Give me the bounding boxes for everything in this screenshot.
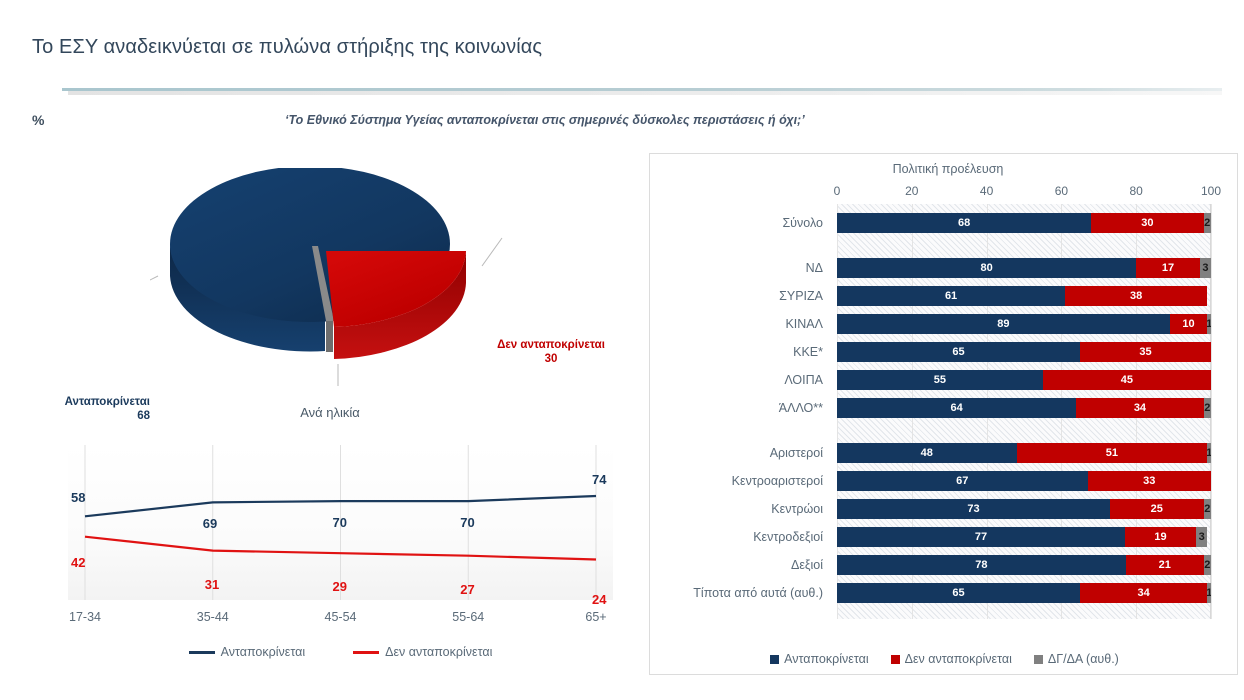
- bar-segment: 21: [1126, 555, 1204, 575]
- bar-segment: 65: [837, 583, 1080, 603]
- legend-label: Δεν ανταποκρίνεται: [385, 645, 492, 659]
- bar-x-tick: 40: [980, 184, 993, 198]
- line-data-label: 70: [460, 515, 474, 530]
- legend-swatch-icon: [189, 651, 215, 654]
- pie-label-not-responds-value: 30: [545, 353, 558, 365]
- bar-row-label: Δεξιοί: [650, 555, 830, 575]
- line-chart-legend: ΑνταποκρίνεταιΔεν ανταποκρίνεται: [68, 645, 613, 659]
- question-text: ‘Το Εθνικό Σύστημα Υγείας ανταποκρίνεται…: [285, 113, 805, 127]
- bar-row: Σύνολο68302: [650, 213, 1239, 233]
- bar-row-label: ΚΙΝΑΛ: [650, 314, 830, 334]
- bar-rows: Σύνολο68302ΝΔ80173ΣΥΡΙΖΑ6138ΚΙΝΑΛ89101ΚΚ…: [650, 204, 1239, 619]
- bar-segment: 10: [1170, 314, 1207, 334]
- bar-row-label: ΣΥΡΙΖΑ: [650, 286, 830, 306]
- page-title: Το ΕΣΥ αναδεικνύεται σε πυλώνα στήριξης …: [32, 36, 542, 59]
- legend-swatch-icon: [1034, 655, 1043, 664]
- pie-label-not-responds: Δεν ανταποκρίνεται 30: [492, 338, 610, 367]
- line-x-tick: 55-64: [420, 610, 516, 624]
- bar-segment: 65: [837, 342, 1080, 362]
- legend-swatch-icon: [770, 655, 779, 664]
- line-data-label: 69: [203, 516, 217, 531]
- bar-segment: 67: [837, 471, 1088, 491]
- bar-row: ΝΔ80173: [650, 258, 1239, 278]
- line-chart-title: Ανά ηλικία: [20, 405, 640, 420]
- bar-row: Κεντροδεξιοί77193: [650, 527, 1239, 547]
- bar-segment: 48: [837, 443, 1017, 463]
- bar-row: ΚΙΝΑΛ89101: [650, 314, 1239, 334]
- bar-row: ΛΟΙΠΑ5545: [650, 370, 1239, 390]
- bar-x-tick: 20: [905, 184, 918, 198]
- bar-segment: 68: [837, 213, 1091, 233]
- bar-x-tick: 100: [1201, 184, 1221, 198]
- bar-row-label: Κεντροδεξιοί: [650, 527, 830, 547]
- bar-segment: 80: [837, 258, 1136, 278]
- bar-row-label: Κεντρώοι: [650, 499, 830, 519]
- bar-segment: 34: [1080, 583, 1207, 603]
- bar-row-segments: 6733: [837, 471, 1211, 491]
- bar-segment: 19: [1125, 527, 1196, 547]
- bar-segment: 25: [1110, 499, 1204, 519]
- line-data-label: 24: [592, 592, 606, 607]
- bar-segment: 3: [1196, 527, 1207, 547]
- line-chart: Ανά ηλικία 58697070744231292724 17-3435-…: [20, 405, 640, 680]
- legend-label: Ανταποκρίνεται: [784, 652, 868, 666]
- bar-row-segments: 68302: [837, 213, 1211, 233]
- pie-label-not-responds-name: Δεν ανταποκρίνεται: [497, 339, 605, 351]
- pie-graphic: [150, 168, 510, 398]
- bar-row: Τίποτα από αυτά (αυθ.)65341: [650, 583, 1239, 603]
- bar-row-label: Αριστεροί: [650, 443, 830, 463]
- line-x-tick: 65+: [548, 610, 644, 624]
- bar-segment: 33: [1088, 471, 1211, 491]
- bar-segment: 2: [1204, 213, 1211, 233]
- bar-segment: 30: [1091, 213, 1203, 233]
- bar-segment: 17: [1136, 258, 1200, 278]
- bar-segment: 73: [837, 499, 1110, 519]
- bar-row-segments: 80173: [837, 258, 1211, 278]
- bar-row-segments: 6535: [837, 342, 1211, 362]
- bar-row: Κεντρώοι73252: [650, 499, 1239, 519]
- line-x-tick: 35-44: [165, 610, 261, 624]
- bar-segment: 78: [837, 555, 1126, 575]
- line-data-label: 29: [333, 579, 347, 594]
- legend-label: Δεν ανταποκρίνεται: [905, 652, 1012, 666]
- bar-segment: 2: [1204, 555, 1211, 575]
- line-x-tick: 45-54: [293, 610, 389, 624]
- bar-segment: 34: [1076, 398, 1203, 418]
- bar-segment: 1: [1207, 583, 1211, 603]
- line-data-label: 42: [71, 555, 85, 570]
- bar-row-segments: 78212: [837, 555, 1211, 575]
- legend-item: Δεν ανταποκρίνεται: [891, 652, 1012, 666]
- bar-row: Κεντροαριστεροί6733: [650, 471, 1239, 491]
- legend-label: ΔΓ/ΔΑ (αυθ.): [1048, 652, 1119, 666]
- bar-segment: 3: [1200, 258, 1211, 278]
- bar-x-tick: 60: [1055, 184, 1068, 198]
- line-data-label: 74: [592, 472, 606, 487]
- legend-label: Ανταποκρίνεται: [221, 645, 305, 659]
- title-divider: [62, 88, 1222, 95]
- bar-row-segments: 64342: [837, 398, 1211, 418]
- bar-segment: 45: [1043, 370, 1211, 390]
- divider-line-shadow: [68, 91, 1222, 95]
- bar-row: ΆΛΛΟ**64342: [650, 398, 1239, 418]
- bar-segment: 89: [837, 314, 1170, 334]
- bar-row-label: Τίποτα από αυτά (αυθ.): [650, 583, 830, 603]
- bar-row-label: ΝΔ: [650, 258, 830, 278]
- bar-row-label: Σύνολο: [650, 213, 830, 233]
- bar-segment: 55: [837, 370, 1043, 390]
- bar-row-label: ΚΚΕ*: [650, 342, 830, 362]
- pie-chart: Ανταποκρίνεται 68 Δεν ανταποκρίνεται 30 …: [0, 150, 640, 400]
- bar-segment: 1: [1207, 443, 1211, 463]
- bar-segment: 51: [1017, 443, 1208, 463]
- bar-row-label: ΆΛΛΟ**: [650, 398, 830, 418]
- bar-row: ΣΥΡΙΖΑ6138: [650, 286, 1239, 306]
- bar-segment: 35: [1080, 342, 1211, 362]
- bar-segment: 77: [837, 527, 1125, 547]
- legend-swatch-icon: [353, 651, 379, 654]
- bar-row: Δεξιοί78212: [650, 555, 1239, 575]
- bar-segment: 38: [1065, 286, 1207, 306]
- bar-row-segments: 89101: [837, 314, 1211, 334]
- line-data-label: 27: [460, 582, 474, 597]
- bar-x-tick: 80: [1130, 184, 1143, 198]
- bar-x-axis: 020406080100: [650, 184, 1239, 200]
- line-data-label: 58: [71, 490, 85, 505]
- bar-segment: 61: [837, 286, 1065, 306]
- bar-row: ΚΚΕ*6535: [650, 342, 1239, 362]
- bar-chart-panel: Πολιτική προέλευση 020406080100 Σύνολο68…: [649, 153, 1238, 675]
- bar-row-segments: 73252: [837, 499, 1211, 519]
- legend-swatch-icon: [891, 655, 900, 664]
- line-data-label: 31: [205, 577, 219, 592]
- bar-row-label: ΛΟΙΠΑ: [650, 370, 830, 390]
- bar-segment: 1: [1207, 314, 1211, 334]
- bar-chart-legend: ΑνταποκρίνεταιΔεν ανταποκρίνεταιΔΓ/ΔΑ (α…: [650, 652, 1239, 666]
- line-x-tick: 17-34: [37, 610, 133, 624]
- bar-row-segments: 77193: [837, 527, 1211, 547]
- bar-segment: 2: [1204, 499, 1211, 519]
- legend-item: Ανταποκρίνεται: [189, 645, 305, 659]
- bar-row-segments: 48511: [837, 443, 1211, 463]
- pie-stage: [150, 168, 510, 388]
- bar-row-label: Κεντροαριστεροί: [650, 471, 830, 491]
- unit-label: %: [32, 112, 44, 128]
- legend-item: Δεν ανταποκρίνεται: [353, 645, 492, 659]
- bar-segment: 2: [1204, 398, 1211, 418]
- legend-item: Ανταποκρίνεται: [770, 652, 868, 666]
- bar-x-tick: 0: [834, 184, 841, 198]
- bar-row-segments: 6138: [837, 286, 1211, 306]
- line-data-label: 70: [333, 515, 347, 530]
- legend-item: ΔΓ/ΔΑ (αυθ.): [1034, 652, 1119, 666]
- bar-chart-title: Πολιτική προέλευση: [678, 162, 1218, 176]
- bar-row-segments: 5545: [837, 370, 1211, 390]
- bar-segment: 64: [837, 398, 1076, 418]
- bar-row-segments: 65341: [837, 583, 1211, 603]
- bar-row: Αριστεροί48511: [650, 443, 1239, 463]
